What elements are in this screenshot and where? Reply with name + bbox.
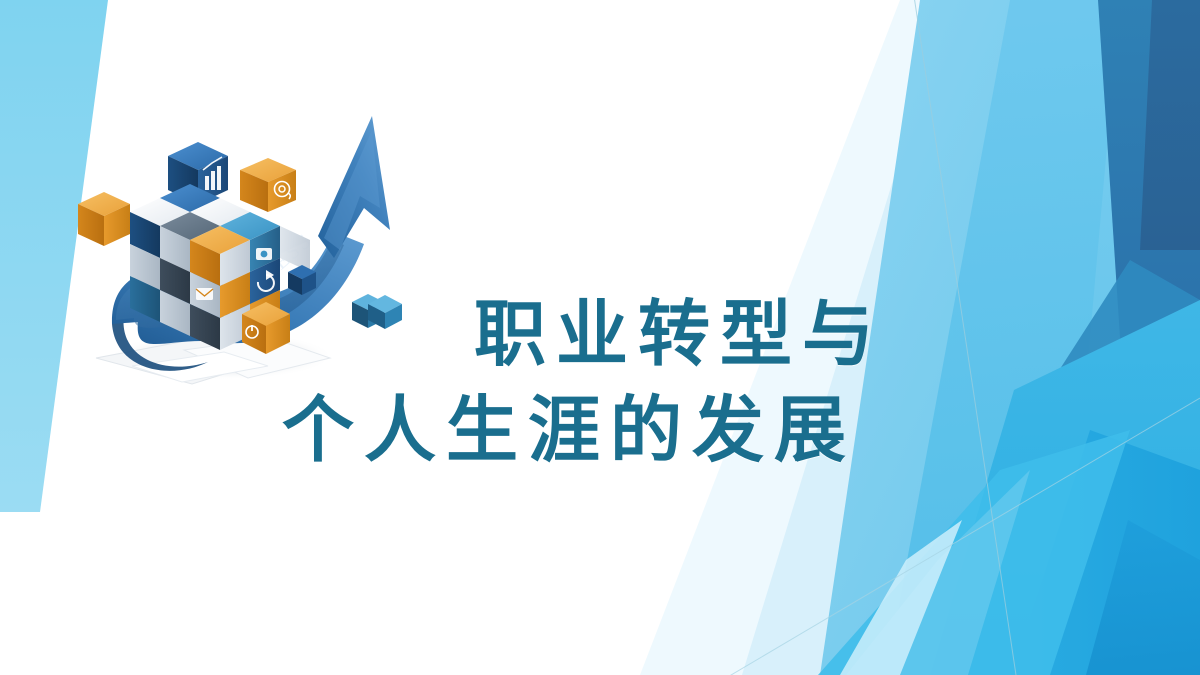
slide-canvas: BUSINESS: [0, 0, 1200, 675]
cube-orange-at: [240, 158, 296, 212]
camera-icon: [256, 248, 272, 260]
cube-orange-left: [78, 192, 130, 246]
mail-icon: [196, 288, 213, 300]
title-line-2: 个人生涯的发展: [282, 382, 998, 478]
title-line-1: 职业转型与: [474, 286, 998, 382]
slide-title: 职业转型与 个人生涯的发展: [268, 286, 998, 479]
